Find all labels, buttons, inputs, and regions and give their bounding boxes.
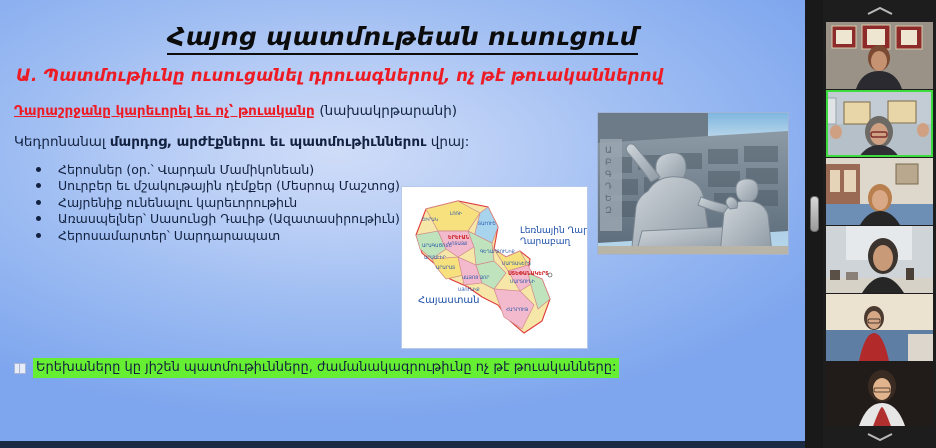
svg-text:ՎԱՅՈՑ ՁՈՐ: ՎԱՅՈՑ ՁՈՐ (462, 275, 489, 281)
list-item: Հայրենիք ունենալու կարեւորութիւն (30, 195, 450, 210)
list-item: Հերոսամարտեր՝ Սարդարապատ (30, 228, 450, 243)
section-heading: Ա. Պատմութիւնը ուսուցանել դրուագներով, ո… (16, 66, 716, 85)
slide-bottom-bar (0, 441, 805, 448)
conclusion-text: Երեխաները կը յիշեն պատմութիւնները, ժաման… (33, 358, 619, 378)
svg-text:Դ: Դ (605, 182, 612, 192)
svg-text:Զ: Զ (605, 206, 612, 216)
svg-text:ԿՈՏԱՅՔ: ԿՈՏԱՅՔ (448, 241, 467, 247)
svg-text:ՏԱՒՈՒՇ: ՏԱՒՈՒՇ (478, 221, 496, 227)
statue-photo: ԱԲԳ ԴԵԶ (597, 112, 789, 255)
square-bullet-icon (14, 363, 26, 374)
chevron-down-icon (865, 428, 895, 447)
participant-tile-6[interactable] (826, 362, 933, 426)
slide-title: Հայոց պատմութեան ուսուցում (0, 22, 805, 51)
svg-text:ՄԱՐՏԱԿԵՐՏ: ՄԱՐՏԱԿԵՐՏ (502, 261, 531, 267)
svg-text:ԱՐԱՐԱՏ: ԱՐԱՐԱՏ (436, 265, 455, 271)
focus-line: Կեդրոնանալ մարդոց, արժէքներու եւ պատմութ… (14, 134, 614, 150)
svg-text:Բ: Բ (605, 158, 612, 168)
panel-resize-handle[interactable] (810, 196, 819, 232)
chevron-up-icon (865, 2, 895, 21)
focus-line-suffix: վրայ: (426, 134, 469, 150)
focus-line-bold: մարդոց, արժէքներու եւ պատմութիւններու (110, 134, 427, 150)
svg-text:ԳԵՂԱՐՔՈՒՆԻՔ: ԳԵՂԱՐՔՈՒՆԻՔ (480, 249, 515, 255)
map-label-region: Լեռնային Ղարաբաղ (520, 226, 587, 236)
svg-text:Ա: Ա (605, 146, 612, 156)
svg-text:ՀԱԴՐՈՒԹ: ՀԱԴՐՈՒԹ (506, 307, 528, 313)
svg-text:ՍՅՈՒՆԻՔ: ՍՅՈՒՆԻՔ (458, 287, 480, 293)
svg-text:ԼՈՌԻ: ԼՈՌԻ (450, 211, 462, 217)
focus-line-prefix: Կեդրոնանալ (14, 134, 110, 150)
map-label-country: Հայաստան (418, 295, 480, 306)
scroll-up-button[interactable] (823, 0, 936, 22)
svg-text:ԵՐԵՒԱՆ: ԵՐԵՒԱՆ (448, 235, 470, 241)
participant-tiles[interactable] (826, 22, 933, 426)
svg-text:Գ: Գ (605, 170, 612, 180)
conclusion-row: Երեխաները կը յիշեն պատմութիւնները, ժաման… (14, 358, 619, 378)
participant-tile-2[interactable] (826, 90, 933, 157)
bullet-list: Հերոսներ (օր.՝ Վարդան Մամիկոնեան) Սուրբե… (30, 162, 450, 244)
participants-filmstrip (823, 0, 936, 448)
participant-tile-5[interactable] (826, 294, 933, 361)
armenia-map-image: ՇԻՐԱԿԼՈՌԻ ՏԱՒՈՒՇԱՐԱԳԱԾՈՏՆ ԿՈՏԱՅՔԳԵՂԱՐՔՈՒ… (401, 186, 588, 349)
svg-text:ՇԻՐԱԿ: ՇԻՐԱԿ (422, 217, 438, 223)
list-item: Սուրբեր եւ մշակութային դէմքեր (Մեսրոպ Մա… (30, 178, 450, 193)
subheading-underlined: Դարաշրջանը կարեւորել եւ ոչ՝ թուականը (14, 103, 315, 119)
participant-tile-3[interactable] (826, 158, 933, 225)
meeting-screen-share-view: Հայոց պատմութեան ուսուցում Ա. Պատմութիւն… (0, 0, 936, 448)
svg-text:ՍՏԵՓԱՆԱԿԵՐՏ: ՍՏԵՓԱՆԱԿԵՐՏ (508, 271, 549, 277)
scroll-down-button[interactable] (823, 426, 936, 448)
subheading-parenthetical: (նախակրթարանի) (319, 103, 457, 119)
svg-text:ԱՐՄԱՒԻՐ: ԱՐՄԱՒԻՐ (424, 255, 446, 261)
participant-tile-4[interactable] (826, 226, 933, 293)
svg-text:Ղարաբաղ: Ղարաբաղ (520, 237, 570, 247)
list-item: Առասպելներ՝ Սասունցի Դաւիթ (Ազատասիրութի… (30, 211, 450, 226)
svg-text:ՄԱՐՏՈՒՆԻ: ՄԱՐՏՈՒՆԻ (510, 279, 535, 285)
slide-title-text: Հայոց պատմութեան ուսուցում (167, 22, 637, 55)
svg-text:Ե: Ե (605, 194, 612, 204)
panel-divider (805, 0, 823, 448)
list-item: Հերոսներ (օր.՝ Վարդան Մամիկոնեան) (30, 162, 450, 177)
participant-tile-1[interactable] (826, 22, 933, 89)
presentation-slide: Հայոց պատմութեան ուսուցում Ա. Պատմութիւն… (0, 0, 805, 448)
